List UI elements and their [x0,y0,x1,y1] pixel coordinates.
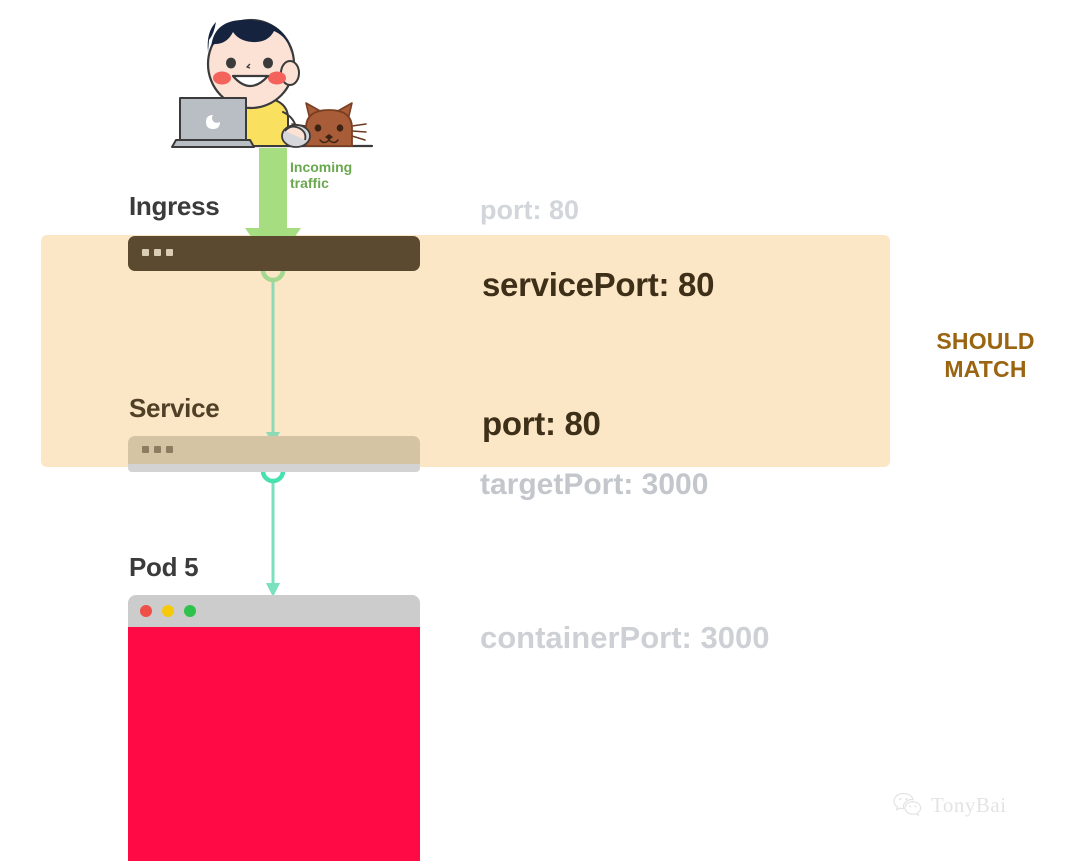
service-bar-foot [128,464,420,472]
should-match-note: SHOULD MATCH [898,327,1073,383]
ingress-window-dots-icon [142,249,173,256]
ingress-port-muted-text: port: 80 [480,195,579,226]
service-connector-node [263,461,283,597]
mouse-icon [282,125,310,147]
person-at-laptop-icon [208,20,299,146]
pod-body [128,627,420,861]
pod-traffic-lights-icon [140,605,196,617]
diagram-canvas: Ingress Service Pod 5 port: 80 servicePo… [0,0,1080,861]
watermark: TonyBai [893,792,1007,818]
incoming-traffic-line2: traffic [290,175,352,191]
cat-icon [292,103,366,146]
should-match-line1: SHOULD [898,327,1073,355]
target-port-text: targetPort: 3000 [480,468,708,502]
service-window-dots-icon [142,446,173,453]
service-port-label-text: port: 80 [482,405,601,443]
incoming-traffic-label: Incoming traffic [290,159,352,191]
watermark-text: TonyBai [931,793,1007,818]
pod-label: Pod 5 [129,552,198,583]
laptop-icon [172,98,254,147]
pod-window [128,595,420,861]
should-match-line2: MATCH [898,355,1073,383]
wechat-icon [893,792,923,818]
service-port-text: servicePort: 80 [482,266,714,304]
ingress-label: Ingress [129,191,219,222]
container-port-text: containerPort: 3000 [480,620,769,656]
service-label: Service [129,393,219,424]
incoming-traffic-line1: Incoming [290,159,352,175]
